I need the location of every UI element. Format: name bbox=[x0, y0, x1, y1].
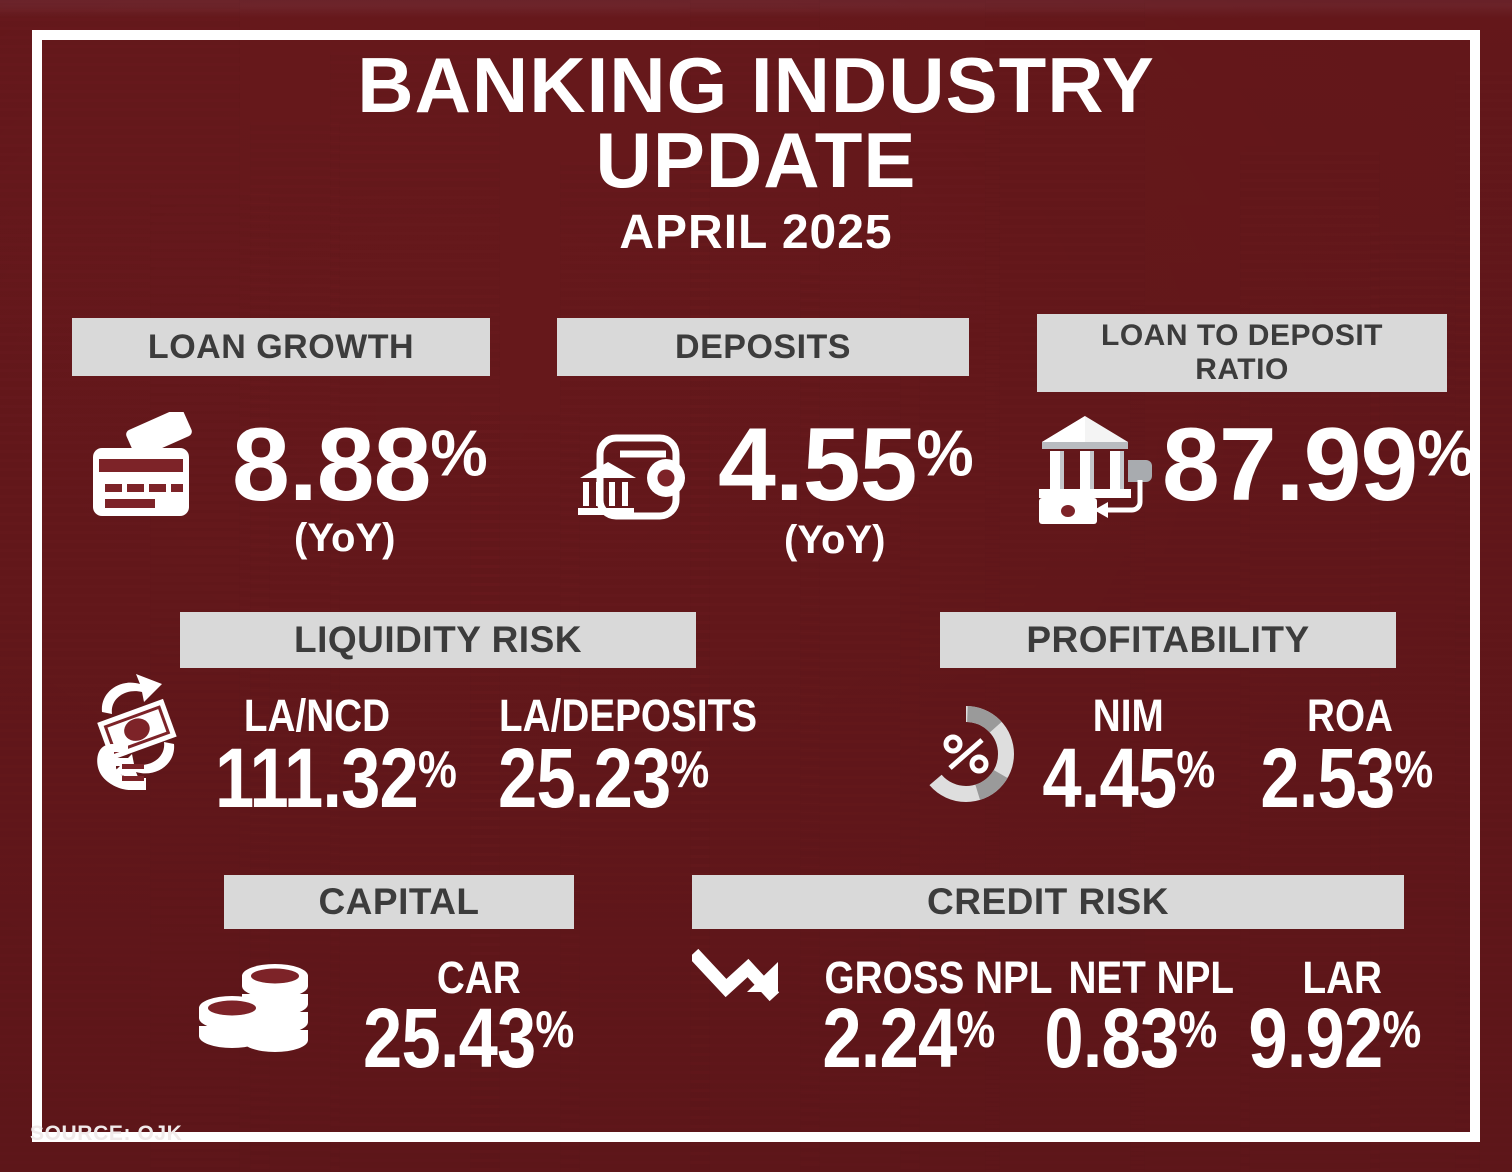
donut-percent-icon bbox=[912, 700, 1020, 808]
note-loan-growth-yoy: (YoY) bbox=[294, 516, 395, 561]
value-lar-number: 9.92 bbox=[1248, 991, 1382, 1085]
value-deposits: 4.55% bbox=[718, 418, 973, 514]
coin-stacks-icon bbox=[195, 962, 325, 1064]
page-title-line1: BANKING INDUSTRY bbox=[0, 48, 1512, 123]
hand-money-exchange-icon bbox=[78, 672, 198, 802]
value-la-deposits-number: 25.23 bbox=[498, 731, 670, 825]
value-roa-unit: % bbox=[1394, 741, 1432, 799]
note-deposits-yoy: (YoY) bbox=[784, 518, 885, 563]
value-lar-unit: % bbox=[1382, 1001, 1420, 1059]
page-subtitle: APRIL 2025 bbox=[0, 210, 1512, 256]
value-car: 25.43% bbox=[363, 1000, 573, 1077]
value-ldr-number: 87.99 bbox=[1162, 407, 1417, 523]
value-roa: 2.53% bbox=[1260, 740, 1432, 817]
value-deposits-number: 4.55 bbox=[718, 407, 916, 523]
wallet-bank-icon bbox=[578, 432, 686, 524]
credit-cards-icon bbox=[88, 412, 198, 524]
value-la-deposits-unit: % bbox=[670, 741, 708, 799]
banner-deposits: DEPOSITS bbox=[557, 318, 969, 376]
infographic-content: BANKING INDUSTRY UPDATE APRIL 2025 LOAN … bbox=[0, 0, 1512, 1172]
banner-ldr-line1: LOAN TO DEPOSIT bbox=[1101, 319, 1383, 353]
banner-capital: CAPITAL bbox=[224, 875, 574, 929]
banner-loan-to-deposit-ratio: LOAN TO DEPOSIT RATIO bbox=[1037, 314, 1447, 392]
value-loan-growth-number: 8.88 bbox=[232, 407, 430, 523]
banner-ldr-line2: RATIO bbox=[1195, 353, 1289, 387]
value-net-npl: 0.83% bbox=[1044, 1000, 1216, 1077]
value-gross-npl-number: 2.24 bbox=[822, 991, 956, 1085]
value-deposits-unit: % bbox=[916, 418, 972, 490]
downward-trend-arrow-icon bbox=[692, 948, 792, 1026]
bank-banknote-arrow-icon bbox=[1036, 414, 1170, 530]
value-la-ncd: 111.32% bbox=[215, 740, 456, 817]
value-ldr-unit: % bbox=[1417, 418, 1473, 490]
value-car-number: 25.43 bbox=[363, 991, 535, 1085]
value-la-ncd-unit: % bbox=[418, 741, 456, 799]
value-loan-to-deposit-ratio: 87.99% bbox=[1162, 418, 1474, 514]
value-gross-npl: 2.24% bbox=[822, 1000, 994, 1077]
value-la-deposits: 25.23% bbox=[498, 740, 708, 817]
header-block: BANKING INDUSTRY UPDATE APRIL 2025 bbox=[0, 48, 1512, 256]
banner-loan-growth: LOAN GROWTH bbox=[72, 318, 490, 376]
value-gross-npl-unit: % bbox=[956, 1001, 994, 1059]
value-nim-number: 4.45 bbox=[1042, 731, 1176, 825]
value-loan-growth: 8.88% bbox=[232, 418, 487, 514]
value-car-unit: % bbox=[535, 1001, 573, 1059]
value-net-npl-number: 0.83 bbox=[1044, 991, 1178, 1085]
value-lar: 9.92% bbox=[1248, 1000, 1420, 1077]
banner-liquidity-risk: LIQUIDITY RISK bbox=[180, 612, 696, 668]
banner-credit-risk: CREDIT RISK bbox=[692, 875, 1404, 929]
value-net-npl-unit: % bbox=[1178, 1001, 1216, 1059]
source-label: SOURCE: OJK bbox=[30, 1122, 182, 1146]
value-loan-growth-unit: % bbox=[430, 418, 486, 490]
value-nim-unit: % bbox=[1176, 741, 1214, 799]
banner-profitability: PROFITABILITY bbox=[940, 612, 1396, 668]
value-la-ncd-number: 111.32 bbox=[215, 731, 418, 825]
value-nim: 4.45% bbox=[1042, 740, 1214, 817]
page-title-line2: UPDATE bbox=[0, 123, 1512, 198]
value-roa-number: 2.53 bbox=[1260, 731, 1394, 825]
